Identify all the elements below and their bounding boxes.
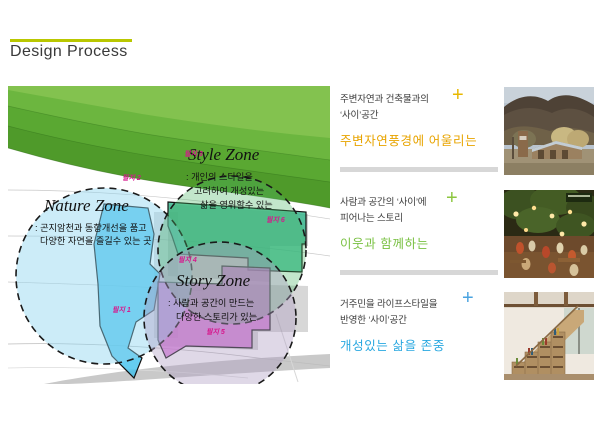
plus-icon: + <box>446 193 458 203</box>
plot-label-1: 필지 1 <box>112 306 131 314</box>
zone-desc-story-line2: 다양한 스토리가 있는 <box>176 311 257 322</box>
concept-row-nature: 주변자연과 건축물과의 ‘사이’공간 + 주변자연풍경에 어울리는 <box>336 86 594 178</box>
plot-label-5: 필지 5 <box>206 328 225 336</box>
concept-row-story: 사람과 공간의 ‘사이’에 피어나는 스토리 + 이웃과 함께하는 <box>336 189 594 281</box>
zone-desc-style-line2: 고려하여 개성있는 <box>194 185 264 196</box>
zone-desc-style-line1: : 개인의 스타일을 <box>186 172 253 182</box>
page-title: Design Process <box>10 43 128 61</box>
concept-caption: 거주민을 라이프스타일을 반영한 ‘사이’공간 <box>340 297 500 329</box>
concept-caption-wrap: 거주민을 라이프스타일을 반영한 ‘사이’공간 <box>340 297 500 329</box>
concept-caption: 주변자연과 건축물과의 ‘사이’공간 <box>340 92 500 124</box>
concept-row-style: 거주민을 라이프스타일을 반영한 ‘사이’공간 + 개성있는 삶을 존중 <box>336 291 594 383</box>
plot-label-2: 필지 2 <box>122 174 141 182</box>
plot-label-3: 필지 3 <box>184 150 203 158</box>
concept-highlight: 이웃과 함께하는 <box>340 233 429 252</box>
row-divider <box>340 270 498 275</box>
zone-desc-nature-line1: : 곤지암천과 동향개선을 품고 <box>35 222 147 233</box>
zone-title-nature: Nature Zone <box>43 196 129 215</box>
plot-label-6: 필지 6 <box>266 216 285 224</box>
zone-desc-nature-line2: 다양한 자연을 즐길수 있는 곳 <box>40 235 152 246</box>
concept-caption-wrap: 주변자연과 건축물과의 ‘사이’공간 <box>340 92 500 124</box>
zone-desc-style-line3: 삶을 영위할수 있는 <box>200 199 273 210</box>
zone-desc-story-line1: : 사람과 공간이 만드는 <box>168 297 254 308</box>
row-divider <box>340 167 498 172</box>
plot-label-4: 필지 4 <box>178 256 197 264</box>
site-zone-diagram: Nature Zone : 곤지암천과 동향개선을 품고 다양한 자연을 즐길수… <box>8 86 330 384</box>
night-festival-photo <box>504 190 594 278</box>
concept-list: 주변자연과 건축물과의 ‘사이’공간 + 주변자연풍경에 어울리는 <box>336 86 594 386</box>
title-accent-rule <box>10 39 132 42</box>
concept-caption-wrap: 사람과 공간의 ‘사이’에 피어나는 스토리 <box>340 195 500 227</box>
concept-highlight: 개성있는 삶을 존중 <box>340 335 445 354</box>
concept-caption: 사람과 공간의 ‘사이’에 피어나는 스토리 <box>340 195 500 227</box>
plus-icon: + <box>452 90 464 100</box>
slide-canvas: Design Process <box>0 0 600 438</box>
plus-icon: + <box>462 293 474 303</box>
rural-house-photo <box>504 87 594 175</box>
bookshelf-stair-photo <box>504 292 594 380</box>
zone-title-story: Story Zone <box>176 271 251 290</box>
concept-highlight: 주변자연풍경에 어울리는 <box>340 130 477 149</box>
